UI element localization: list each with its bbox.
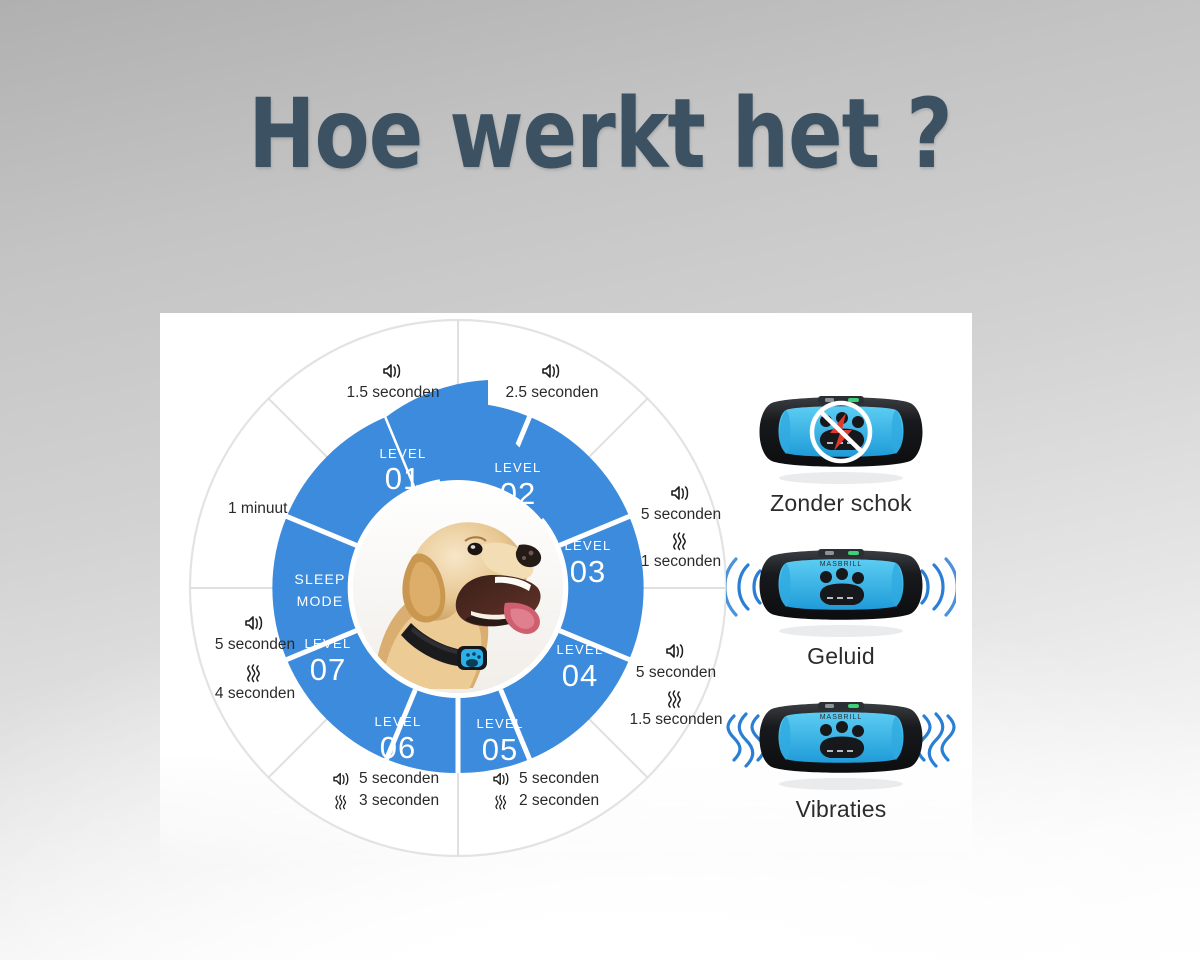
collar-device-vibration: MASBRILL xyxy=(726,694,956,790)
segment-label-level-02-prefix: LEVEL xyxy=(495,460,542,475)
training-levels-wheel: SLEEP MODE LEVEL 01 LEVEL 02 LEVEL 03 LE… xyxy=(188,318,728,858)
collar-device-no-shock xyxy=(726,388,956,484)
annotation-level-01: 1.5 seconden xyxy=(338,360,448,405)
speaker-icon xyxy=(670,484,692,502)
segment-label-level-06-number: 06 xyxy=(380,730,416,765)
device-brand-label: MASBRILL xyxy=(820,714,863,721)
feature-sound: MASBRILL Geluid xyxy=(726,541,956,670)
segment-label-level-06-prefix: LEVEL xyxy=(375,714,422,729)
annotation-level-06: 5 seconden 3 seconden xyxy=(332,768,439,813)
vibration-icon xyxy=(669,531,693,551)
speaker-icon xyxy=(244,614,266,632)
feature-list: Zonder schok xyxy=(726,388,956,847)
annotation-level-03-sound: 5 seconden xyxy=(622,504,740,526)
center-dog-image xyxy=(353,483,563,693)
segment-label-sleep-line2: MODE xyxy=(297,593,344,609)
speaker-icon xyxy=(492,771,512,787)
collar-vibration-graphic: MASBRILL xyxy=(726,694,956,790)
speaker-icon xyxy=(382,362,404,380)
speaker-icon xyxy=(665,642,687,660)
segment-label-level-04-number: 04 xyxy=(562,658,598,693)
annotation-sleep-duration: 1 minuut xyxy=(228,498,287,520)
annotation-level-03: 5 seconden 1 seconden xyxy=(622,482,740,573)
segment-label-level-03-prefix: LEVEL xyxy=(565,538,612,553)
annotation-level-05-sound: 5 seconden xyxy=(519,768,599,790)
annotation-level-05: 5 seconden 2 seconden xyxy=(492,768,599,813)
segment-label-level-01-prefix: LEVEL xyxy=(380,446,427,461)
annotation-level-06-sound-row: 5 seconden xyxy=(332,768,439,790)
annotation-level-04-vibration: 1.5 seconden xyxy=(614,709,738,731)
page-title: Hoe werkt het ? xyxy=(42,78,1158,190)
vibration-icon xyxy=(243,663,267,683)
annotation-sleep-mode: 1 minuut xyxy=(228,498,287,520)
segment-label-level-03-number: 03 xyxy=(570,554,606,589)
vibration-icon xyxy=(492,793,512,811)
segment-label-level-04-prefix: LEVEL xyxy=(557,642,604,657)
annotation-level-02-sound: 2.5 seconden xyxy=(497,382,607,404)
annotation-level-06-sound: 5 seconden xyxy=(359,768,439,790)
speaker-icon xyxy=(332,771,352,787)
feature-no-shock: Zonder schok xyxy=(726,388,956,517)
feature-caption-no-shock: Zonder schok xyxy=(726,490,956,517)
segment-label-level-05-number: 05 xyxy=(482,732,518,767)
annotation-level-03-vibration: 1 seconden xyxy=(622,551,740,573)
collar-device-sound: MASBRILL xyxy=(726,541,956,637)
speaker-icon xyxy=(541,362,563,380)
collar-no-shock-graphic xyxy=(726,388,956,484)
annotation-level-07: 5 seconden 4 seconden xyxy=(196,612,314,705)
annotation-level-06-vibration-row: 3 seconden xyxy=(332,790,439,812)
annotation-level-01-sound: 1.5 seconden xyxy=(338,382,448,404)
vibration-icon xyxy=(664,689,688,709)
annotation-level-04-sound: 5 seconden xyxy=(614,662,738,684)
feature-caption-vibration: Vibraties xyxy=(726,796,956,823)
feature-caption-sound: Geluid xyxy=(726,643,956,670)
annotation-level-07-sound: 5 seconden xyxy=(196,634,314,656)
segment-label-level-07-number: 07 xyxy=(310,652,346,687)
sound-waves-icon xyxy=(726,559,760,615)
dog-illustration xyxy=(353,483,563,693)
device-brand-label: MASBRILL xyxy=(820,561,863,568)
annotation-level-04: 5 seconden 1.5 seconden xyxy=(614,640,738,731)
vibration-waves-icon xyxy=(728,714,764,766)
segment-label-sleep-line1: SLEEP xyxy=(294,571,345,587)
annotation-level-05-vibration-row: 2 seconden xyxy=(492,790,599,812)
annotation-level-07-vibration: 4 seconden xyxy=(196,683,314,705)
annotation-level-02: 2.5 seconden xyxy=(497,360,607,405)
annotation-level-06-vibration: 3 seconden xyxy=(359,790,439,812)
annotation-level-05-vibration: 2 seconden xyxy=(519,790,599,812)
collar-sound-graphic: MASBRILL xyxy=(726,541,956,637)
segment-label-level-05-prefix: LEVEL xyxy=(477,716,524,731)
annotation-level-05-sound-row: 5 seconden xyxy=(492,768,599,790)
feature-vibration: MASBRILL Vibraties xyxy=(726,694,956,823)
vibration-icon xyxy=(332,793,352,811)
